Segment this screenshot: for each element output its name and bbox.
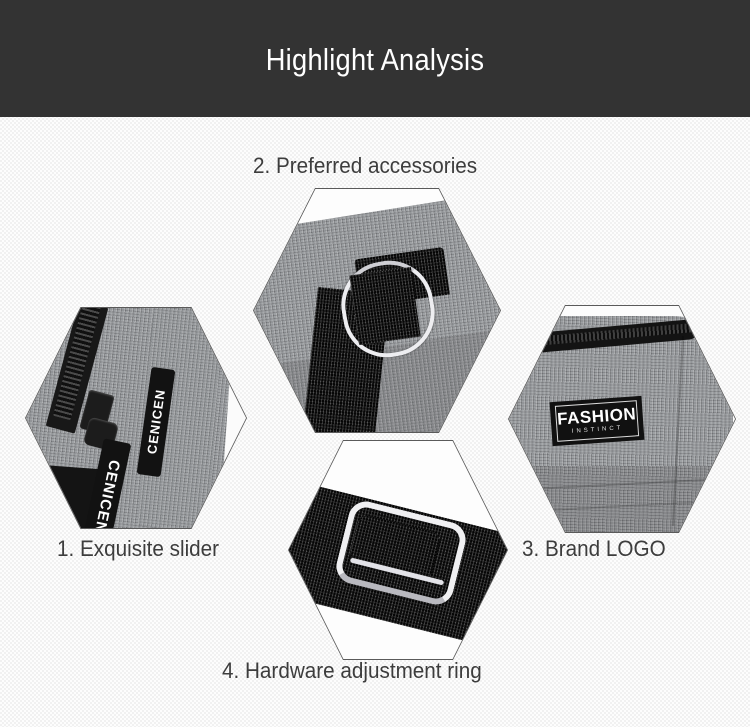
hex-panel-1-border: CENICEN CENICEN bbox=[25, 307, 247, 529]
hex-panel-2-border bbox=[253, 188, 501, 433]
hex-panel-3: FASHION INSTINCT bbox=[509, 306, 735, 532]
hex-panel-4 bbox=[289, 441, 507, 659]
hex-panel-2 bbox=[254, 189, 500, 432]
caption-brand-logo: 3. Brand LOGO bbox=[522, 536, 666, 562]
product-highlight-page: Highlight Analysis 2. Preferred accessor… bbox=[0, 0, 750, 727]
bag-fabric-lower bbox=[509, 466, 733, 532]
page-title: Highlight Analysis bbox=[45, 43, 705, 77]
brand-patch: FASHION INSTINCT bbox=[550, 396, 645, 446]
caption-hardware-adjustment-ring: 4. Hardware adjustment ring bbox=[222, 658, 482, 684]
header-band: Highlight Analysis bbox=[0, 0, 750, 117]
caption-preferred-accessories: 2. Preferred accessories bbox=[253, 153, 477, 179]
photo-hardware-adjustment-ring bbox=[289, 441, 507, 659]
photo-preferred-accessories bbox=[254, 189, 500, 432]
hex-panel-1: CENICEN CENICEN bbox=[26, 308, 246, 528]
hex-panel-4-border bbox=[288, 440, 508, 660]
photo-brand-logo: FASHION INSTINCT bbox=[509, 306, 735, 532]
photo-exquisite-slider: CENICEN CENICEN bbox=[26, 308, 246, 528]
caption-exquisite-slider: 1. Exquisite slider bbox=[57, 536, 219, 562]
hex-panel-3-border: FASHION INSTINCT bbox=[508, 305, 736, 533]
strap-through-ring bbox=[349, 267, 420, 345]
